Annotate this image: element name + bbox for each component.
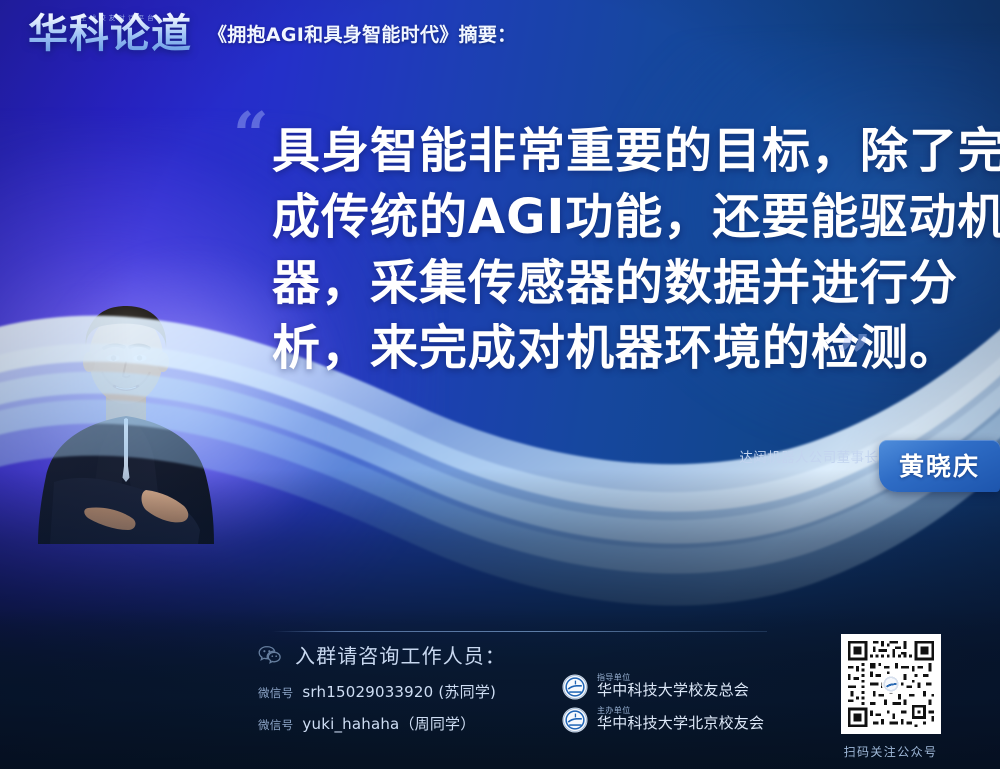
qr-code-caption: 扫码关注公众号: [833, 743, 948, 760]
poster-canvas: 全球校友对话平台 华科论道 《拥抱AGI和具身智能时代》摘要： “ 具身智能非常…: [0, 0, 1000, 769]
organization-name: 华中科技大学校友总会: [597, 683, 749, 699]
quote-line: 器，采集传感器的数据并进行分: [272, 251, 936, 317]
organization-row: 主办单位 华中科技大学北京校友会: [562, 703, 764, 736]
quote-open-mark: “: [233, 104, 269, 166]
university-seal-icon: [562, 674, 588, 700]
brand-logo: 全球校友对话平台 华科论道: [28, 14, 192, 54]
contact-label: 微信号: [258, 717, 293, 733]
footer-heading-row: 入群请咨询工作人员：: [258, 640, 818, 669]
qr-code-block: 扫码关注公众号: [833, 634, 948, 760]
quote-line: 成传统的AGI功能，还要能驱动机: [272, 185, 936, 251]
organization-row: 指导单位 华中科技大学校友总会: [562, 670, 764, 703]
quote-close-mark: ”: [836, 327, 872, 389]
contact-value[interactable]: srh15029033920 (苏同学): [302, 681, 496, 702]
university-seal-icon: [562, 707, 588, 733]
page-title: 《拥抱AGI和具身智能时代》摘要：: [208, 20, 516, 54]
brand-logo-text: 华科论道: [28, 0, 192, 57]
organization-name: 华中科技大学北京校友会: [597, 716, 764, 732]
footer-heading: 入群请咨询工作人员：: [295, 640, 506, 669]
organization-texts: 主办单位 华中科技大学北京校友会: [597, 707, 764, 732]
poster-header: 全球校友对话平台 华科论道 《拥抱AGI和具身智能时代》摘要：: [28, 14, 516, 54]
contact-value[interactable]: yuki_hahaha（周同学）: [302, 713, 475, 734]
quote-line: 具身智能非常重要的目标，除了完: [272, 119, 936, 185]
wechat-icon: [258, 645, 282, 665]
qr-code-image[interactable]: [841, 634, 941, 734]
footer-divider: [272, 631, 767, 632]
organization-texts: 指导单位 华中科技大学校友总会: [597, 674, 749, 699]
speaker-name-badge: 黄晓庆: [879, 440, 1000, 492]
contact-label: 微信号: [258, 685, 293, 701]
organization-list: 指导单位 华中科技大学校友总会 主办单位 华中科技大学北京校友会: [562, 670, 764, 736]
